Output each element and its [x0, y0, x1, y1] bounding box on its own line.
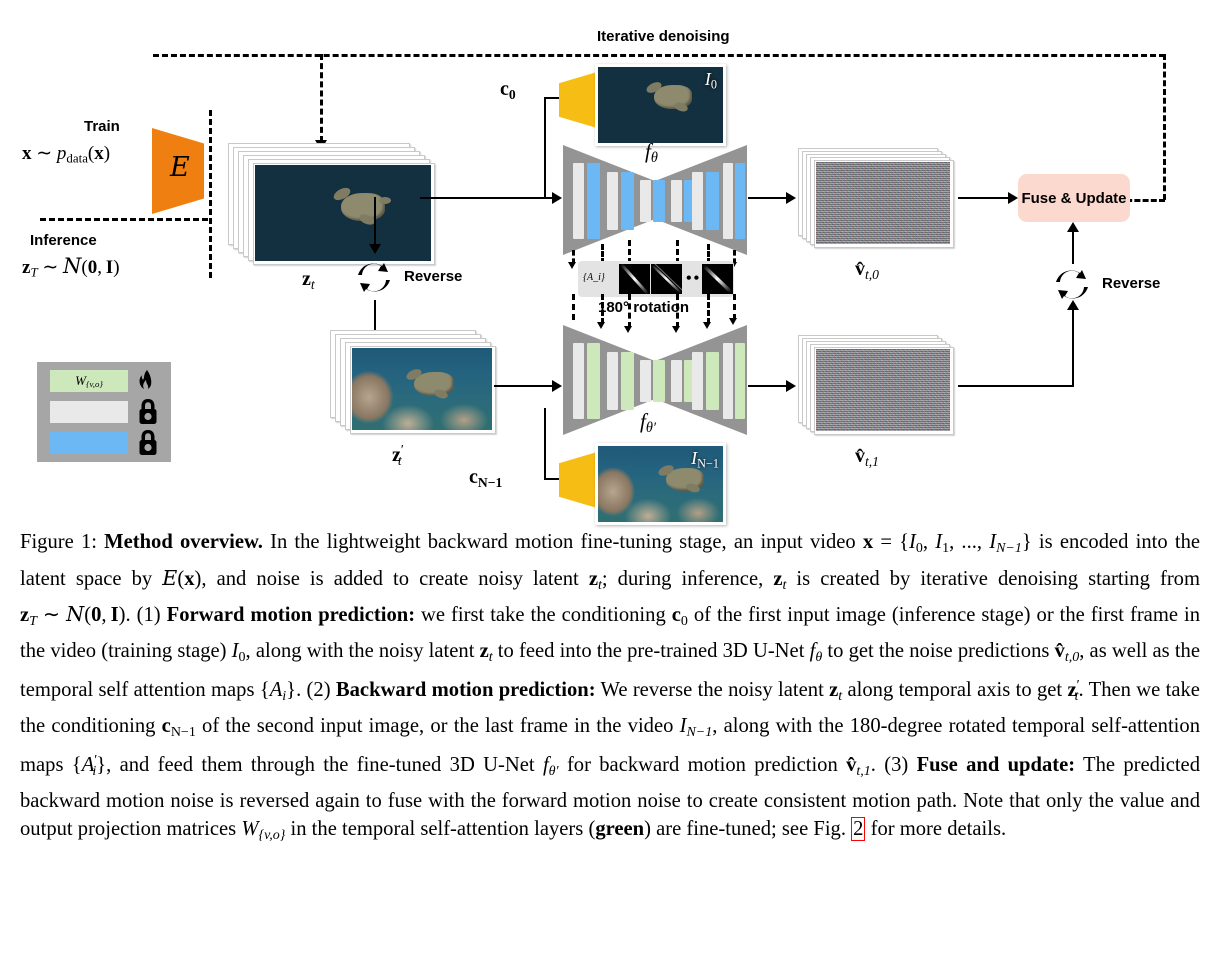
latent-label-zt-reversed: z′t [392, 442, 402, 469]
image-label-I0: I0 [705, 69, 717, 92]
caption-bold-fuse: Fuse and update: [917, 754, 1076, 776]
zt-branch-arrow [369, 244, 381, 254]
reverse-label-2: Reverse [1102, 275, 1160, 292]
image-label-In1: IN−1 [691, 448, 719, 471]
unet-bar-light [723, 163, 733, 239]
attention-maps-strip: {A_i} ••• [578, 261, 734, 297]
conditioner-trapezoid-bottom [559, 452, 597, 508]
rot-tap-line [572, 294, 575, 320]
train-formula: x ∼ pdata(x) [22, 142, 110, 167]
attention-map-tile [619, 264, 650, 294]
unet-backward-label: fθ′ [640, 409, 656, 437]
flame-icon [136, 369, 158, 393]
conditioning-label-cn1: cN−1 [469, 466, 502, 491]
iterative-denoising-top-line [153, 54, 1165, 57]
conditioning-image-bottom: IN−1 [595, 443, 726, 525]
noise-bottom-up-line [1072, 308, 1074, 386]
noise-frame-top [816, 162, 950, 244]
ztprime-to-unet-arrow [552, 380, 562, 392]
reverse-icon-1 [352, 255, 396, 299]
conditioning-image-top: I0 [595, 64, 726, 146]
noise-bottom-up-arrow [1067, 300, 1079, 310]
unet-bar-light [640, 360, 651, 402]
noise-label-bottom: v̂t,1 [855, 445, 879, 470]
rot-tap-line [676, 294, 679, 328]
unet-bar-blue [706, 172, 719, 230]
lock-icon [137, 398, 159, 425]
noise-frame-bottom [816, 349, 950, 431]
fuse-input-arrow [1067, 222, 1079, 232]
unet-bar-light [573, 343, 584, 419]
caption-bold-green: green [595, 818, 644, 840]
unet-bar-blue [735, 163, 745, 239]
lock-icon [137, 429, 159, 456]
unet-bar-light [573, 163, 584, 239]
unet-bar-light [640, 180, 651, 222]
noise-bottom-to-reverse-line [958, 385, 1074, 387]
figure-diagram: Iterative denoising Train x ∼ pdata(x) E… [0, 0, 1218, 520]
ztprime-output-line [494, 385, 560, 387]
unet-bar-light [671, 180, 682, 222]
fuse-input-line-up [1072, 232, 1074, 264]
noise-top-to-fuse-arrow [1008, 192, 1018, 204]
attention-maps-label: {A_i} [583, 272, 605, 283]
zt-output-line [420, 197, 560, 199]
unet-bar-green [587, 343, 600, 419]
attention-map-tile [651, 264, 682, 294]
unet-top-output-arrow [786, 192, 796, 204]
unet-bar-light [692, 352, 703, 410]
rot-tap-line [601, 294, 604, 324]
iterative-denoising-left-line [320, 54, 323, 142]
caption-title: Method overview. [104, 531, 263, 553]
rot-tap-arrow [729, 318, 737, 325]
iterative-denoising-label: Iterative denoising [597, 28, 730, 45]
attn-tap-arrow [568, 262, 576, 269]
conditioning-label-c0: c0 [500, 78, 516, 103]
caption-figure-number: Figure 1: [20, 531, 97, 553]
unet-bar-green [706, 352, 719, 410]
train-inference-divider [40, 218, 208, 221]
fuse-update-box: Fuse & Update [1018, 174, 1130, 222]
unet-bottom-output-arrow [786, 380, 796, 392]
train-label: Train [84, 118, 120, 135]
unet-bar-green [735, 343, 745, 419]
caption-bold-backward: Backward motion prediction: [336, 679, 596, 701]
legend-swatch-label: W{v,o} [75, 373, 103, 389]
unet-bar-light [692, 172, 703, 230]
zt-to-unet-arrow [552, 192, 562, 204]
legend-box: W{v,o} [37, 362, 171, 462]
noise-stack-top [798, 148, 958, 258]
latent-frame-image-reversed [352, 348, 492, 430]
unet-bar-blue [653, 180, 665, 222]
latent-frame-image [255, 165, 431, 261]
conditioner-trapezoid-top [559, 72, 597, 128]
figure-reference-link[interactable]: 2 [851, 817, 865, 841]
latent-stack-zt [228, 143, 444, 263]
unet-bar-light [723, 343, 733, 419]
figure-caption: Figure 1: Method overview. In the lightw… [20, 528, 1200, 851]
noise-stack-bottom [798, 335, 958, 445]
unet-bar-light [607, 352, 618, 410]
inference-label: Inference [30, 232, 97, 249]
rot-tap-line [628, 294, 631, 328]
unet-bar-green [621, 352, 634, 410]
legend-swatch-frozen-gray [50, 401, 128, 423]
rot-tap-line [707, 294, 710, 324]
inference-formula: zT ∼ N(0, I) [22, 254, 120, 281]
rot-tap-line [733, 294, 736, 320]
latent-stack-zt-reversed [330, 330, 510, 440]
fuse-update-label: Fuse & Update [1021, 190, 1126, 207]
caption-bold-forward: Forward motion prediction: [167, 604, 415, 626]
c0-down-line [544, 98, 546, 198]
legend-swatch-frozen-blue [50, 432, 128, 454]
unet-bar-green [653, 360, 665, 402]
latent-label-zt: zt [302, 268, 315, 293]
cn1-up-line [544, 408, 546, 480]
unet-bar-light [671, 360, 682, 402]
unet-bar-blue [587, 163, 600, 239]
reverse-label-1: Reverse [404, 268, 462, 285]
attention-map-tile [702, 264, 733, 294]
encoder-symbol-label: E [170, 152, 190, 183]
iterative-denoising-right-line [1163, 54, 1166, 200]
legend-swatch-w-vo: W{v,o} [50, 370, 128, 392]
noise-label-top: v̂t,0 [855, 258, 879, 283]
unet-forward-label: fθ [645, 139, 658, 167]
zt-branch-down-line [374, 197, 376, 247]
section-divider [209, 110, 212, 278]
unet-bar-blue [621, 172, 634, 230]
unet-bar-light [607, 172, 618, 230]
